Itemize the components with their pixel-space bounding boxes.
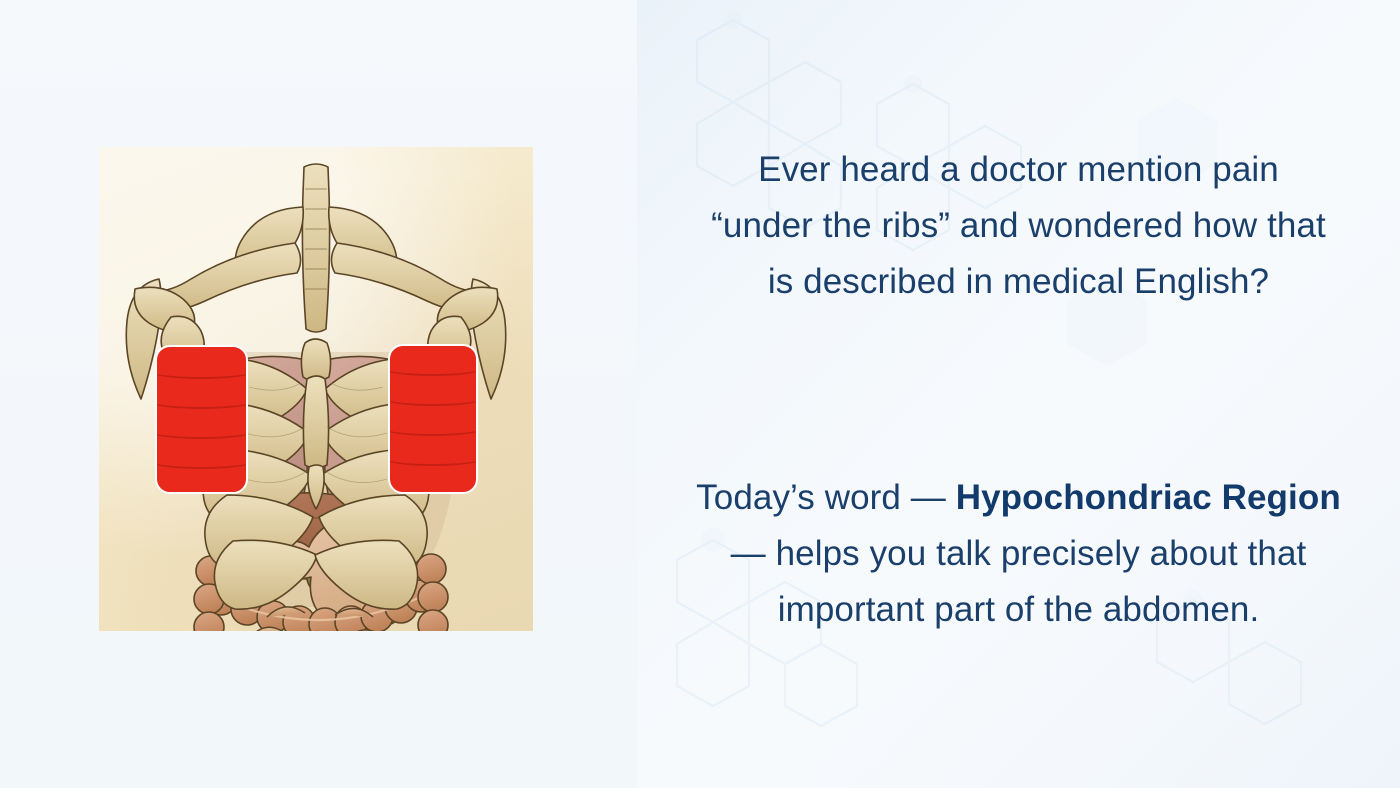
term-hypochondriac-region: Hypochondriac Region: [956, 478, 1341, 517]
headline: Ever heard a doctor mention pain “under …: [637, 142, 1400, 310]
text-content: Ever heard a doctor mention pain “under …: [637, 0, 1400, 788]
illustration-panel: [0, 0, 637, 788]
text-panel: Ever heard a doctor mention pain “under …: [637, 0, 1400, 788]
headline-line-2: “under the ribs” and wondered how that: [637, 198, 1400, 254]
definition-line-3: important part of the abdomen.: [637, 582, 1400, 638]
headline-line-3: is described in medical English?: [637, 254, 1400, 310]
highlight-left-hypochondriac-region: [388, 344, 478, 494]
highlight-right-hypochondriac-region: [155, 345, 248, 494]
definition-line-1: Today’s word — Hypochondriac Region: [637, 470, 1400, 526]
headline-line-1: Ever heard a doctor mention pain: [637, 142, 1400, 198]
anatomy-figure: [99, 147, 533, 631]
definition-line-2: — helps you talk precisely about that: [637, 526, 1400, 582]
definition: Today’s word — Hypochondriac Region — he…: [637, 470, 1400, 638]
rib-shading: [390, 346, 476, 492]
slide-root: Ever heard a doctor mention pain “under …: [0, 0, 1400, 788]
definition-prefix: Today’s word —: [696, 478, 956, 517]
rib-shading: [157, 347, 246, 492]
